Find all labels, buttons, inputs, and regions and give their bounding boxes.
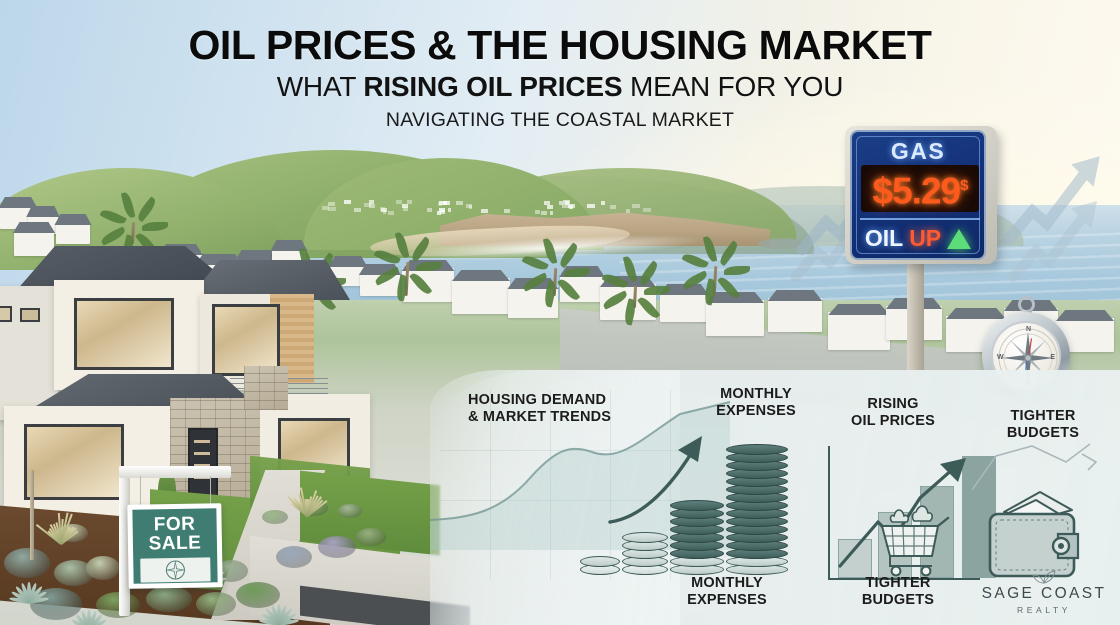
shrub: [318, 536, 356, 558]
for-sale-line1: FOR: [154, 515, 196, 535]
compass-rose-icon: [163, 558, 187, 582]
shrub: [4, 548, 50, 578]
title-block: OIL PRICES & THE HOUSING MARKET WHAT RIS…: [0, 22, 1120, 132]
agave-plant: [6, 576, 52, 602]
gas-price-value: $5.29$: [873, 167, 968, 210]
shrub: [86, 556, 120, 580]
for-sale-sign-arm: [119, 466, 231, 478]
compass-east-label: E: [1050, 354, 1055, 361]
tighter-budgets-trend-line: [970, 436, 1120, 496]
palm-tree: [700, 266, 730, 296]
palm-tree: [540, 268, 570, 296]
sign-hanger: [210, 476, 211, 506]
brand-name: SAGE COAST: [978, 585, 1110, 603]
label-monthly-expenses-top: MONTHLY EXPENSES: [686, 386, 826, 420]
page-subtitle: WHAT RISING OIL PRICES MEAN FOR YOU: [0, 70, 1120, 104]
agave-plant: [256, 598, 302, 624]
coin-stack: [670, 492, 724, 575]
gas-sign-face: GAS $5.29$ OIL UP: [850, 130, 986, 260]
page-tagline: NAVIGATING THE COASTAL MARKET: [0, 108, 1120, 132]
gas-sign-frame: GAS $5.29$ OIL UP: [845, 126, 997, 264]
shrub: [262, 510, 288, 524]
ornamental-grass: [286, 482, 326, 516]
label-monthly-expenses-bottom: MONTHLY EXPENSES: [662, 575, 792, 609]
gas-sign-status: OIL UP: [852, 225, 984, 252]
neighborhood-house: [660, 292, 708, 322]
shrub: [196, 592, 236, 616]
label-tighter-budgets-bottom: TIGHTER BUDGETS: [830, 575, 966, 609]
palm-tree: [392, 262, 422, 296]
for-sale-line2: SALE: [148, 534, 201, 554]
coin-stack: [622, 524, 668, 575]
label-housing-demand: HOUSING DEMAND & MARKET TRENDS: [468, 392, 678, 426]
shrub: [146, 586, 192, 612]
up-triangle-icon: [947, 229, 971, 249]
palm-tree: [118, 222, 148, 244]
shrub: [276, 546, 312, 568]
for-sale-sign[interactable]: FOR SALE: [127, 503, 222, 589]
label-rising-oil-prices: RISING OIL PRICES: [828, 396, 958, 430]
leaf-sprig-icon: [1029, 570, 1059, 584]
gas-sign-header: GAS: [852, 138, 984, 165]
brand-logo[interactable]: SAGE COAST REALTY: [978, 570, 1110, 615]
compass-west-label: W: [997, 354, 1004, 361]
compass-north-label: N: [1026, 326, 1031, 333]
neighborhood-house: [828, 312, 890, 350]
chart-y-axis: [828, 446, 830, 580]
page-title: OIL PRICES & THE HOUSING MARKET: [0, 22, 1120, 68]
agave-plant: [66, 604, 112, 625]
brand-subtitle: REALTY: [978, 605, 1110, 615]
tree-trunk: [30, 470, 34, 560]
shopping-cart-icon: [876, 504, 958, 580]
gas-sign-pole: [907, 259, 924, 377]
neighborhood-house: [56, 222, 90, 244]
shrub: [356, 528, 386, 546]
gas-price-sign[interactable]: GAS $5.29$ OIL UP: [845, 126, 1003, 276]
oil-word: OIL: [865, 225, 903, 252]
ornamental-grass: [40, 510, 80, 544]
shrub: [338, 504, 362, 518]
palm-tree: [620, 286, 650, 308]
trend-word: UP: [909, 225, 941, 252]
neighborhood-house: [768, 298, 822, 332]
coin-stack: [726, 436, 788, 575]
for-sale-emblem-bar: [140, 557, 211, 582]
gas-sign-divider: [860, 218, 980, 220]
gas-price-display: $5.29$: [861, 165, 979, 212]
neighborhood-house: [706, 300, 764, 336]
neighborhood-house: [452, 278, 510, 314]
coin-stack: [580, 548, 620, 575]
sign-hanger: [140, 476, 141, 506]
distant-town: [320, 200, 680, 216]
rising-arrow-icon: [1008, 186, 1110, 288]
poster-canvas: FOR SALE GAS: [0, 0, 1120, 625]
